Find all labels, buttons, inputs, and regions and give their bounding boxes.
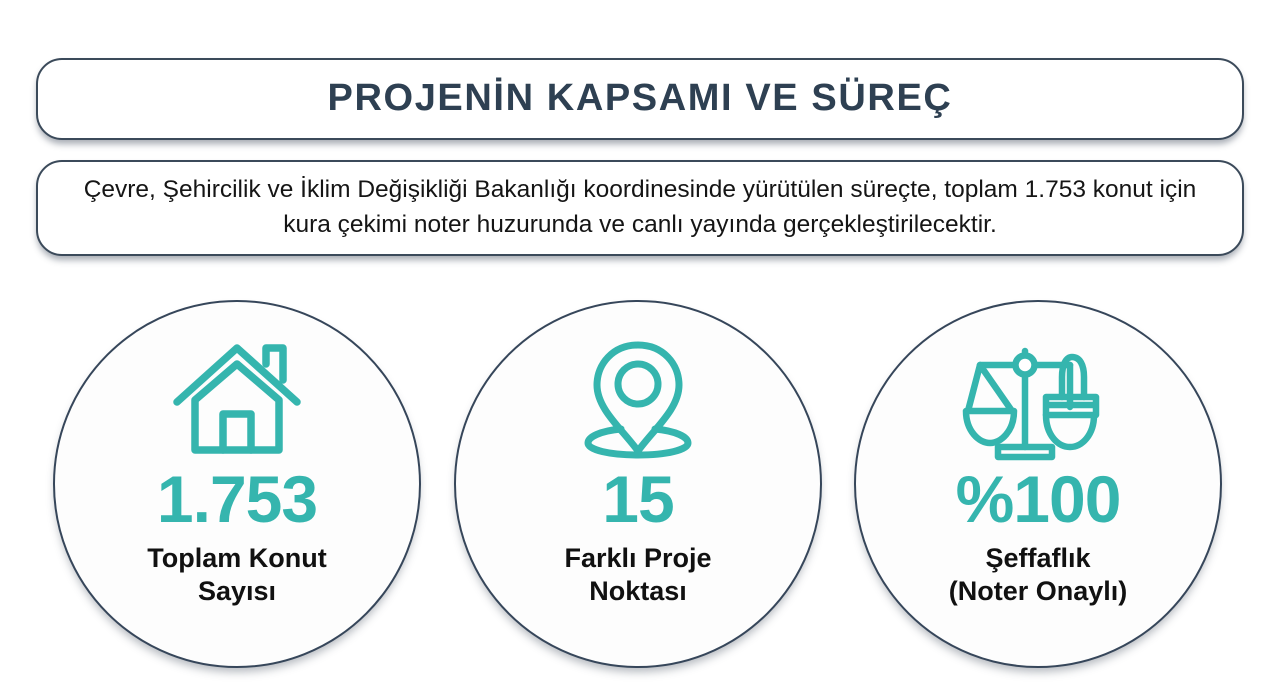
stat-value: 1.753 (157, 466, 317, 532)
stat-card-toplam-konut: 1.753 Toplam Konut Sayısı (53, 300, 421, 668)
page-title: PROJENİN KAPSAMI VE SÜREÇ (328, 79, 953, 119)
stat-label: Farklı Proje Noktası (564, 542, 711, 608)
stat-label-line-1: Toplam Konut (147, 542, 326, 575)
stat-label-line-2: (Noter Onaylı) (949, 575, 1128, 608)
scales-stamp-icon (962, 336, 1114, 460)
description-line-1: Çevre, Şehircilik ve İklim Değişikliği B… (84, 176, 1018, 203)
house-icon (171, 336, 303, 460)
stat-card-seffaflik: %100 Şeffaflık (Noter Onaylı) (854, 300, 1222, 668)
description-panel: Çevre, Şehircilik ve İklim Değişikliği B… (36, 160, 1244, 256)
stat-label-line-2: Sayısı (147, 575, 326, 608)
stat-card-farkli-proje: 15 Farklı Proje Noktası (454, 300, 822, 668)
map-pin-icon (580, 336, 696, 460)
stats-row: 1.753 Toplam Konut Sayısı 15 Farklı (0, 296, 1280, 678)
stat-label: Şeffaflık (Noter Onaylı) (949, 542, 1128, 608)
stat-label: Toplam Konut Sayısı (147, 542, 326, 608)
stat-label-line-1: Şeffaflık (949, 542, 1128, 575)
stat-value: %100 (956, 466, 1121, 532)
description-text: Çevre, Şehircilik ve İklim Değişikliği B… (72, 173, 1208, 243)
stat-label-line-1: Farklı Proje (564, 542, 711, 575)
stat-value: 15 (602, 466, 673, 532)
title-panel: PROJENİN KAPSAMI VE SÜREÇ (36, 58, 1244, 140)
infographic-root: PROJENİN KAPSAMI VE SÜREÇ Çevre, Şehirci… (0, 0, 1280, 698)
stat-label-line-2: Noktası (564, 575, 711, 608)
